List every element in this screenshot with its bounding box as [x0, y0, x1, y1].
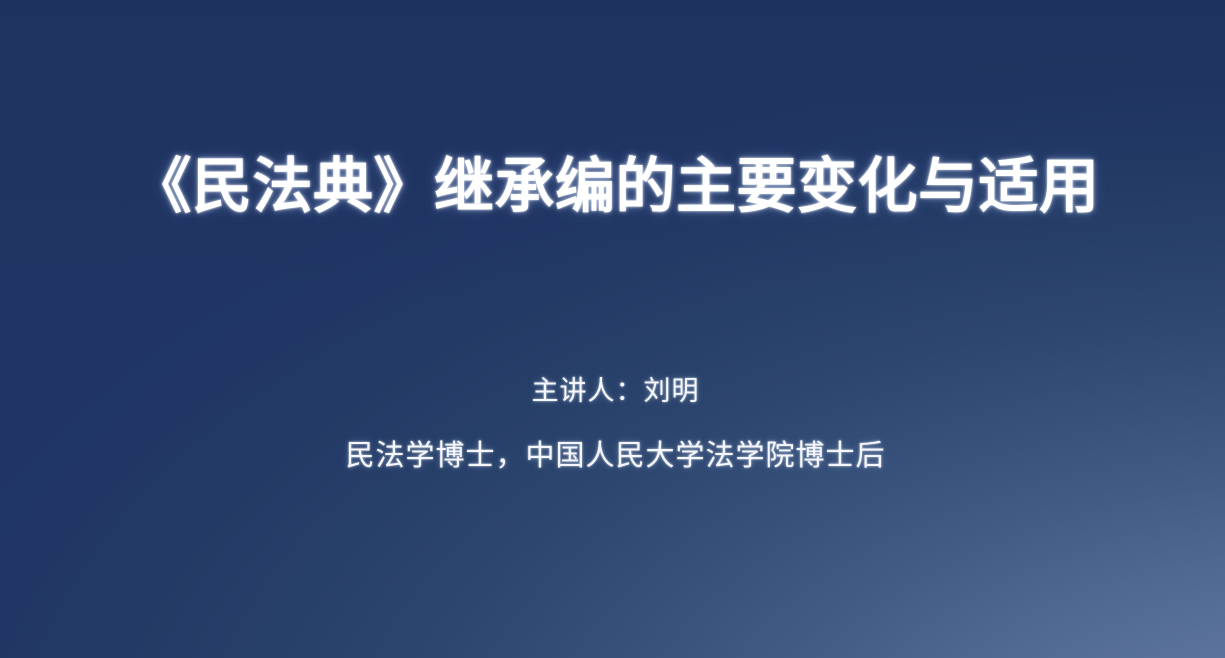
- slide-title: 《民法典》继承编的主要变化与适用: [0, 152, 1225, 223]
- presentation-title-slide: 《民法典》继承编的主要变化与适用 主讲人：刘明 民法学博士，中国人民大学法学院博…: [0, 0, 1225, 658]
- slide-content: 《民法典》继承编的主要变化与适用 主讲人：刘明 民法学博士，中国人民大学法学院博…: [0, 0, 1225, 658]
- presenter-name: 主讲人：刘明: [0, 374, 1225, 409]
- presenter-credentials: 民法学博士，中国人民大学法学院博士后: [0, 438, 1225, 476]
